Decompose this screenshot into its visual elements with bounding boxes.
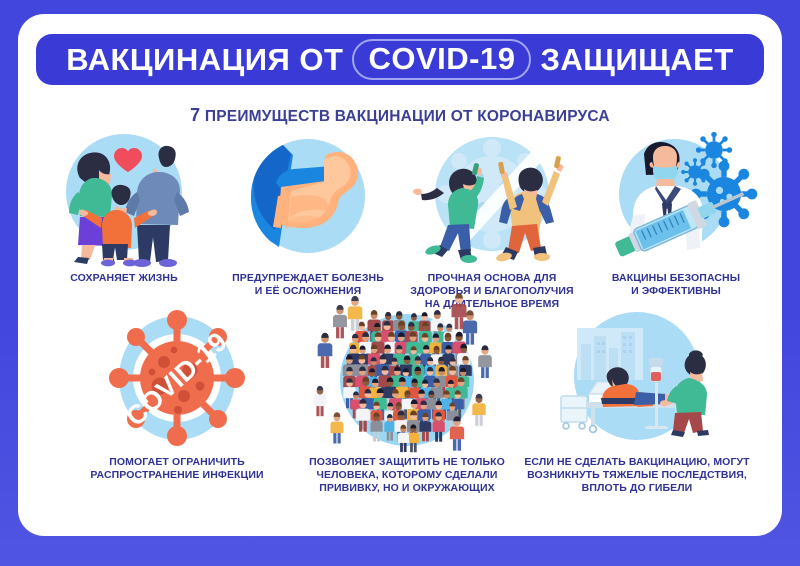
flexed-arm-muscle-illustration (228, 126, 388, 266)
title-banner: ВАКЦИНАЦИЯ ОТ COVID-19 ЗАЩИЩАЕТ (36, 34, 764, 85)
subtitle: 7 ПРЕИМУЩЕСТВ ВАКЦИНАЦИИ ОТ КОРОНАВИРУСА (18, 105, 782, 126)
hospital-bed-patient-illustration (537, 310, 737, 450)
title-part-1: ВАКЦИНАЦИЯ ОТ (66, 44, 343, 75)
benefit-caption: ПОМОГАЕТ ОГРАНИЧИТЬ РАСПРОСТРАНЕНИЕ ИНФЕ… (90, 456, 263, 482)
benefits-row-1: СОХРАНЯЕТ ЖИЗНЬ (32, 126, 768, 310)
benefit-caption: ВАКЦИНЫ БЕЗОПАСНЫ И ЭФФЕКТИВНЫ (612, 272, 740, 298)
crowd-of-people-illustration (307, 310, 507, 450)
benefit-protects-others: ПОЗВОЛЯЕТ ЗАЩИТИТЬ НЕ ТОЛЬКО ЧЕЛОВЕКА, К… (292, 310, 522, 494)
poster-card: ВАКЦИНАЦИЯ ОТ COVID-19 ЗАЩИЩАЕТ 7 ПРЕИМУ… (18, 14, 782, 536)
benefit-caption: ПРЕДУПРЕЖДАЕТ БОЛЕЗНЬ И ЕЁ ОСЛОЖНЕНИЯ (232, 272, 384, 298)
benefit-severe-consequences: ЕСЛИ НЕ СДЕЛАТЬ ВАКЦИНАЦИЮ, МОГУТ ВОЗНИК… (522, 310, 752, 494)
benefit-caption: ПРОЧНАЯ ОСНОВА ДЛЯ ЗДОРОВЬЯ И БЛАГОПОЛУЧ… (410, 272, 573, 310)
benefit-vaccines-safe: ВАКЦИНЫ БЕЗОПАСНЫ И ЭФФЕКТИВНЫ (584, 126, 768, 310)
doctor-with-syringe-illustration (596, 126, 756, 266)
covid-19-virus-crossed-illustration: COVID-19 (92, 310, 262, 450)
title-covid-badge: COVID-19 (352, 39, 531, 80)
title-text: ВАКЦИНАЦИЯ ОТ COVID-19 ЗАЩИЩАЕТ (66, 39, 734, 80)
benefit-saves-life: СОХРАНЯЕТ ЖИЗНЬ (32, 126, 216, 310)
benefit-caption: ПОЗВОЛЯЕТ ЗАЩИТИТЬ НЕ ТОЛЬКО ЧЕЛОВЕКА, К… (309, 456, 505, 494)
benefit-caption: ЕСЛИ НЕ СДЕЛАТЬ ВАКЦИНАЦИЮ, МОГУТ ВОЗНИК… (524, 456, 749, 494)
poster-root: ВАКЦИНАЦИЯ ОТ COVID-19 ЗАЩИЩАЕТ 7 ПРЕИМУ… (0, 0, 800, 566)
benefit-long-term-health: ПРОЧНАЯ ОСНОВА ДЛЯ ЗДОРОВЬЯ И БЛАГОПОЛУЧ… (400, 126, 584, 310)
subtitle-text: ПРЕИМУЩЕСТВ ВАКЦИНАЦИИ ОТ КОРОНАВИРУСА (205, 108, 610, 125)
family-with-heart-illustration (44, 126, 204, 266)
title-part-2: ЗАЩИЩАЕТ (540, 44, 733, 75)
benefit-prevents-illness: ПРЕДУПРЕЖДАЕТ БОЛЕЗНЬ И ЕЁ ОСЛОЖНЕНИЯ (216, 126, 400, 310)
benefit-caption: СОХРАНЯЕТ ЖИЗНЬ (70, 272, 177, 285)
benefits-row-2: COVID-19 ПОМОГАЕТ ОГРАНИЧИТЬ РАСПРОСТРАН… (62, 310, 752, 494)
benefit-limits-spread: COVID-19 ПОМОГАЕТ ОГРАНИЧИТЬ РАСПРОСТРАН… (62, 310, 292, 494)
jumping-people-over-virus-illustration (407, 126, 577, 266)
subtitle-number: 7 (190, 105, 200, 125)
